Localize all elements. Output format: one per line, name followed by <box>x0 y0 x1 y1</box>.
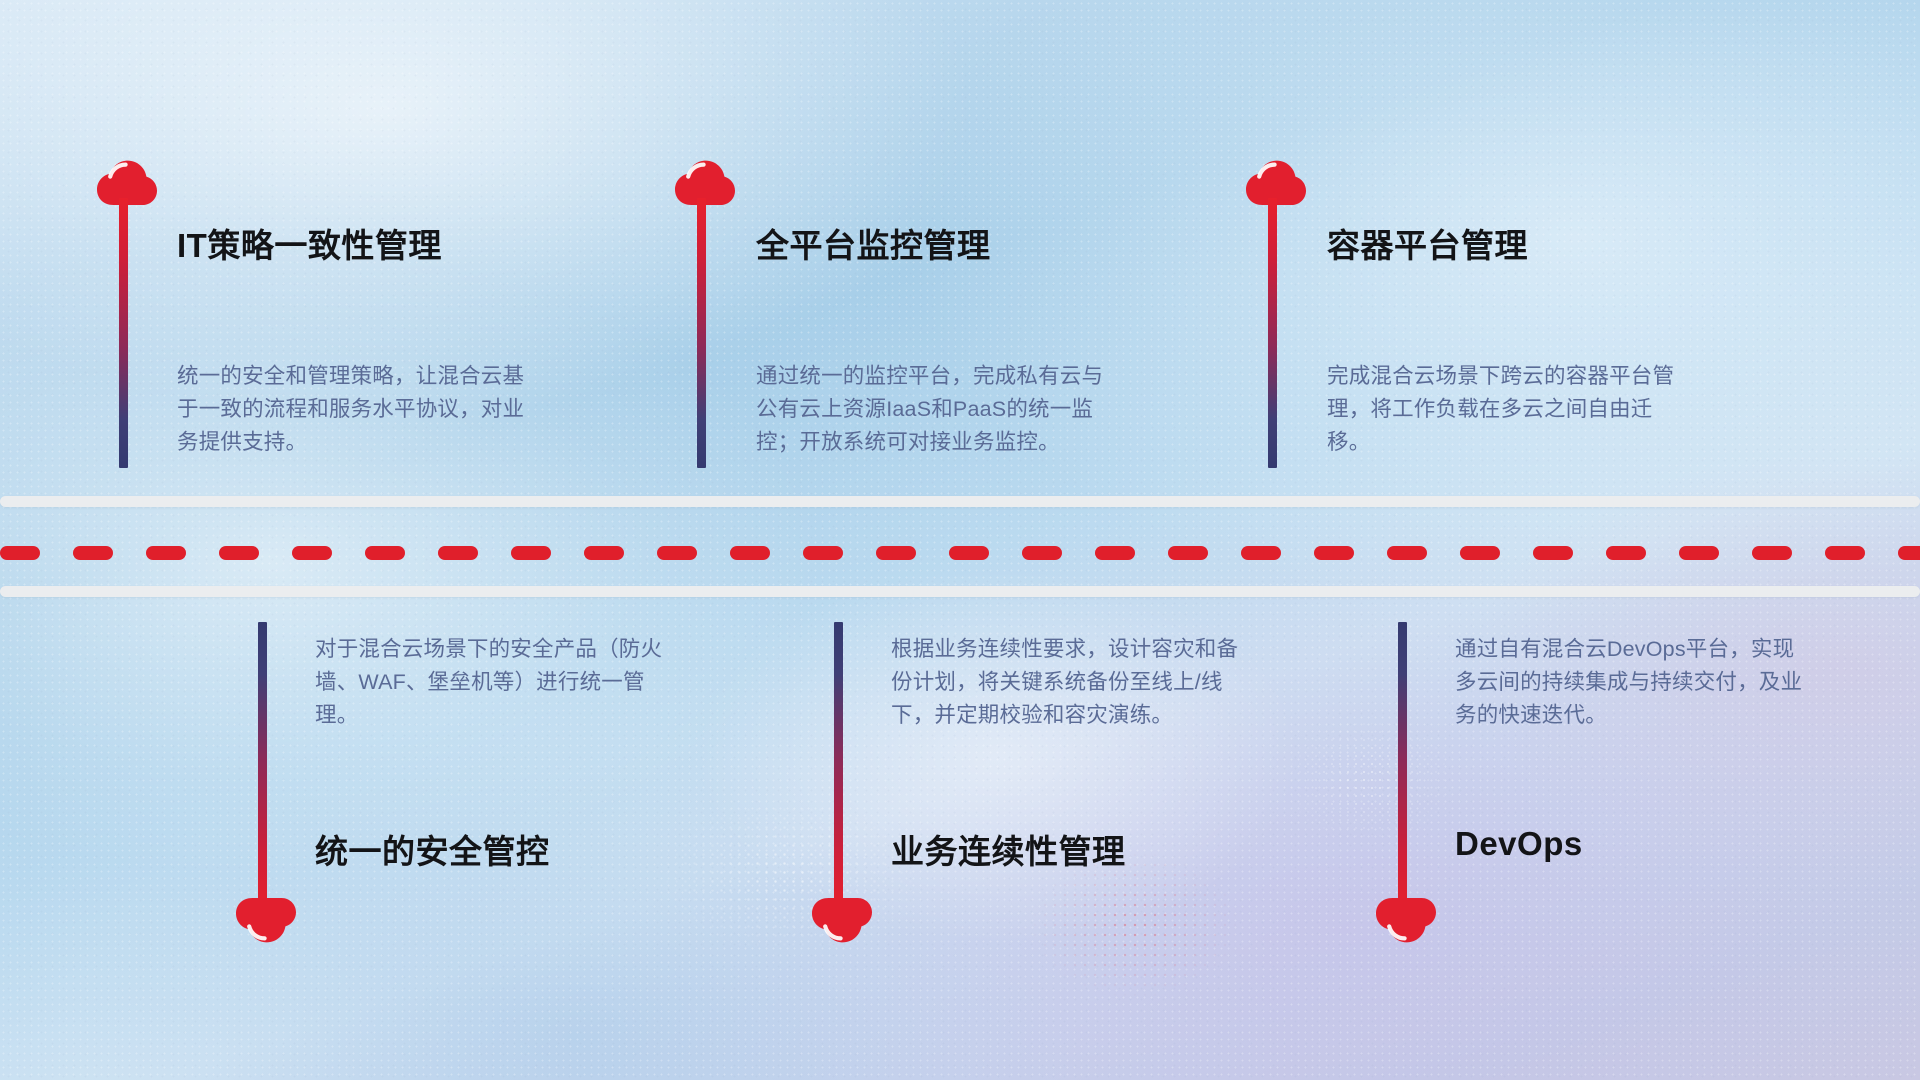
road-dash <box>292 546 332 560</box>
cloud-icon <box>1375 897 1437 943</box>
road-edge-bottom <box>0 586 1920 597</box>
road-dash <box>1533 546 1573 560</box>
card-body: 完成混合云场景下跨云的容器平台管理，将工作负载在多云之间自由迁移。 <box>1327 360 1677 459</box>
cloud-icon <box>235 897 297 943</box>
road-dash <box>1898 546 1920 560</box>
card-title: 容器平台管理 <box>1327 219 1528 267</box>
road-edge-top <box>0 496 1920 507</box>
card-body: 通过统一的监控平台，完成私有云与公有云上资源IaaS和PaaS的统一监控；开放系… <box>756 360 1106 459</box>
road-dash <box>949 546 989 560</box>
road-dash <box>1679 546 1719 560</box>
card-body: 根据业务连续性要求，设计容灾和备份计划，将关键系统备份至线上/线下，并定期校验和… <box>891 633 1241 732</box>
road-center-dashes <box>0 546 1920 560</box>
road-dash <box>1022 546 1062 560</box>
card-title: 全平台监控管理 <box>756 219 991 267</box>
stem-connector <box>119 198 128 468</box>
card-body: 统一的安全和管理策略，让混合云基于一致的流程和服务水平协议，对业务提供支持。 <box>177 360 527 459</box>
road-dash <box>438 546 478 560</box>
stem-connector <box>1268 198 1277 468</box>
card-body: 对于混合云场景下的安全产品（防火墙、WAF、堡垒机等）进行统一管理。 <box>315 633 665 732</box>
background-dot-cluster-white <box>600 760 980 990</box>
card-title: IT策略一致性管理 <box>177 219 442 267</box>
road-dash <box>584 546 624 560</box>
road-dash <box>657 546 697 560</box>
road-dash <box>1241 546 1281 560</box>
road-dash <box>876 546 916 560</box>
stem-connector <box>258 622 267 912</box>
card-title: 业务连续性管理 <box>891 825 1126 873</box>
road-dash <box>803 546 843 560</box>
road-dash <box>730 546 770 560</box>
road-dash <box>1387 546 1427 560</box>
road-dash <box>0 546 40 560</box>
infographic-canvas: IT策略一致性管理 统一的安全和管理策略，让混合云基于一致的流程和服务水平协议，… <box>0 0 1920 1080</box>
road-dash <box>1095 546 1135 560</box>
road-dash <box>1460 546 1500 560</box>
road-dash <box>1606 546 1646 560</box>
card-title: 统一的安全管控 <box>315 825 550 873</box>
road-dash <box>1825 546 1865 560</box>
road-dash <box>365 546 405 560</box>
road-dash <box>1314 546 1354 560</box>
road-dash <box>73 546 113 560</box>
road-dash <box>146 546 186 560</box>
stem-connector <box>697 198 706 468</box>
stem-connector <box>834 622 843 912</box>
card-body: 通过自有混合云DevOps平台，实现多云间的持续集成与持续交付，及业务的快速迭代… <box>1455 633 1805 732</box>
road-dash <box>1168 546 1208 560</box>
road-dash <box>219 546 259 560</box>
card-title: DevOps <box>1455 825 1583 863</box>
road-dash <box>511 546 551 560</box>
road-dash <box>1752 546 1792 560</box>
stem-connector <box>1398 622 1407 912</box>
cloud-icon <box>811 897 873 943</box>
